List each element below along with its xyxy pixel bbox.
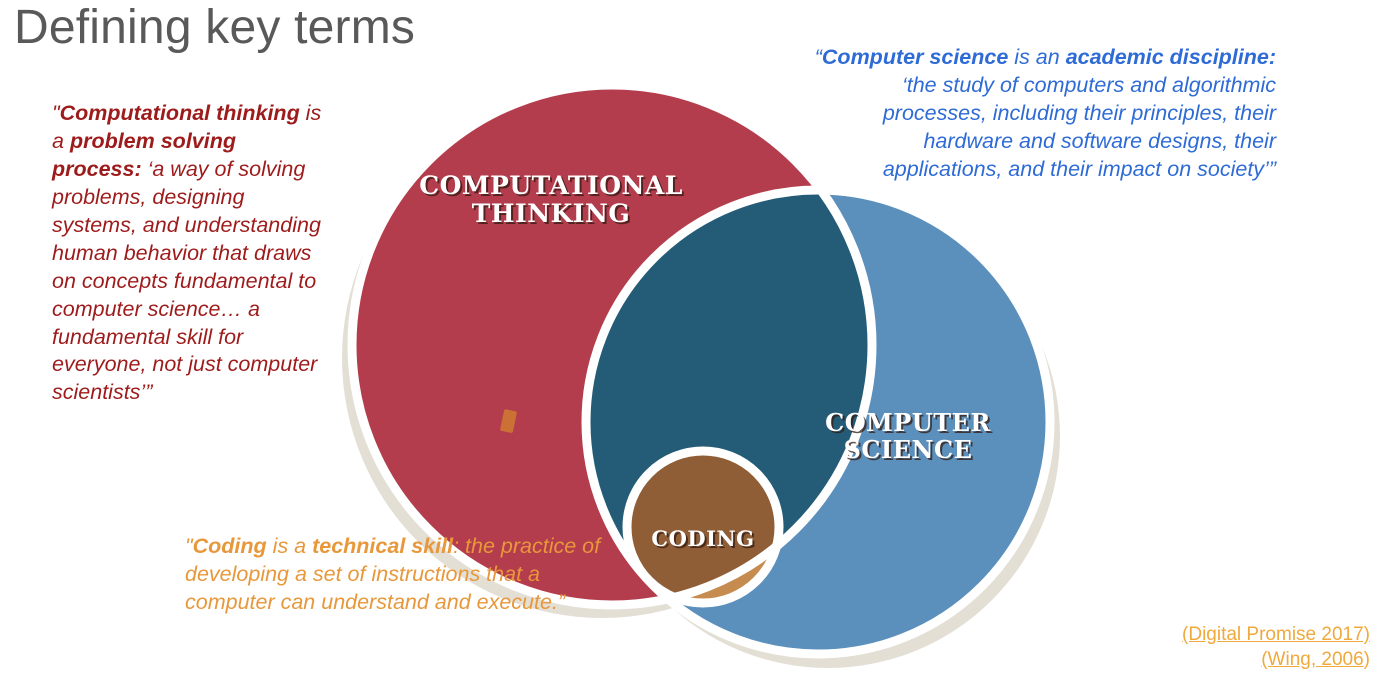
venn-label-coding: CODING	[628, 527, 778, 551]
page-title: Defining key terms	[14, 0, 415, 58]
citation-links: (Digital Promise 2017) (Wing, 2006)	[1050, 623, 1370, 672]
quote-coding-open: "	[185, 534, 193, 558]
quote-computational-thinking: "Computational thinking is a problem sol…	[52, 100, 328, 407]
quote-cs-mid: is an	[1008, 45, 1065, 69]
venn-label-computer-science: COMPUTER SCIENCE	[788, 410, 1028, 464]
quote-cs-term: Computer science	[822, 45, 1008, 69]
quote-cs-open: “	[815, 45, 822, 69]
quote-ct-open: "	[52, 101, 60, 125]
citation-link-wing[interactable]: (Wing, 2006)	[1050, 648, 1370, 672]
quote-computer-science: “Computer science is an academic discipl…	[806, 44, 1276, 184]
quote-ct-body: ‘a way of solving problems, designing sy…	[52, 157, 321, 405]
decorative-mark	[500, 409, 517, 433]
quote-coding-term: Coding	[193, 534, 267, 558]
slide-canvas: Defining key terms	[0, 0, 1384, 676]
quote-coding: "Coding is a technical skill: the practi…	[185, 533, 605, 617]
quote-cs-kind: academic discipline:	[1066, 45, 1276, 69]
quote-ct-term: Computational thinking	[60, 101, 300, 125]
quote-coding-mid: is a	[267, 534, 312, 558]
venn-outline-computational-thinking	[352, 85, 872, 605]
venn-label-computational-thinking: COMPUTATIONAL THINKING	[398, 172, 704, 228]
citation-link-digital-promise[interactable]: (Digital Promise 2017)	[1050, 623, 1370, 647]
quote-cs-body: ‘the study of computers and algorithmic …	[883, 73, 1276, 181]
venn-circle-computational-thinking	[352, 85, 872, 605]
quote-coding-kind: technical skill	[312, 534, 453, 558]
